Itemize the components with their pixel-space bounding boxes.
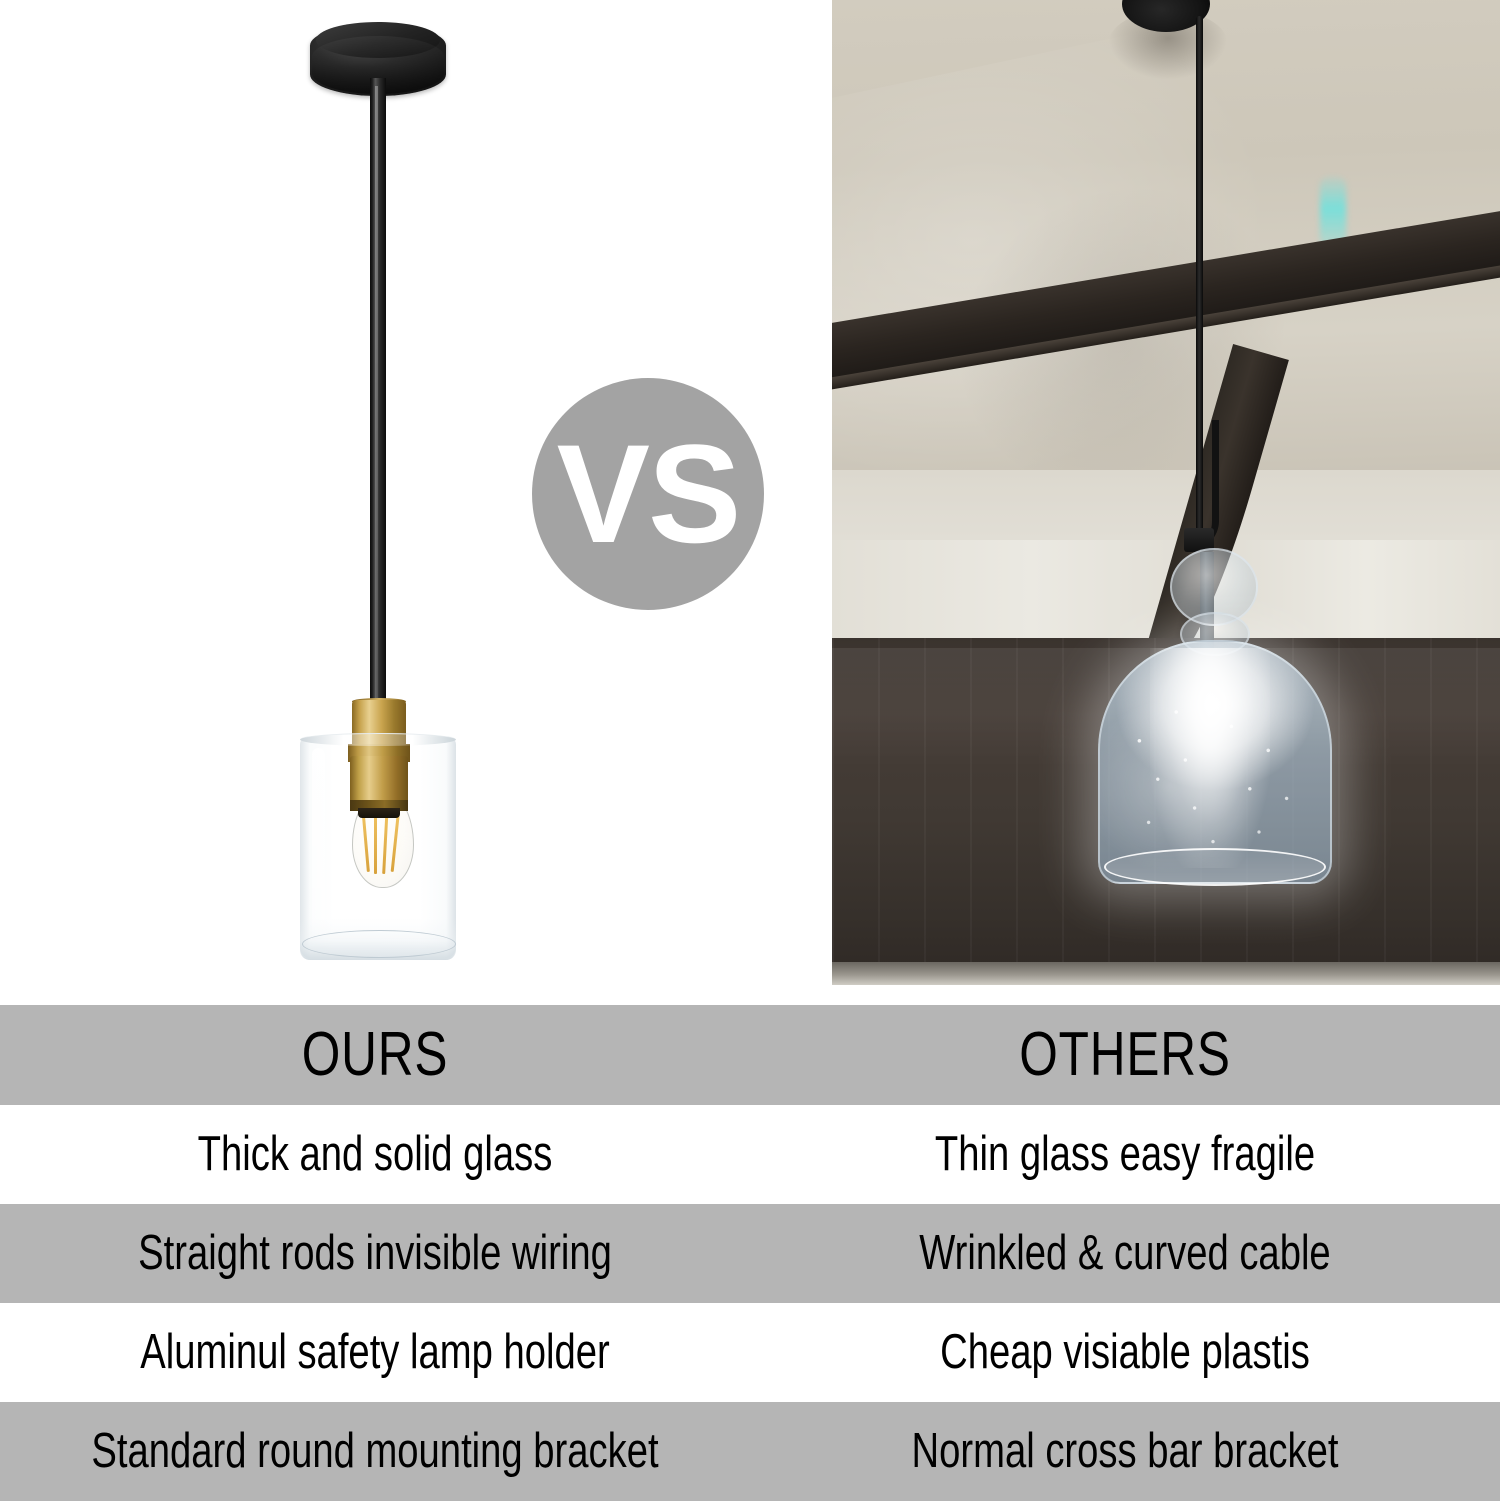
feature-ours: Thick and solid glass: [83, 1130, 668, 1179]
vs-label: VS: [557, 424, 740, 564]
feature-others: Thin glass easy fragile: [833, 1130, 1418, 1179]
glass-shade-top-rim: [300, 733, 456, 746]
pendant-rod-highlight: [375, 86, 378, 700]
table-row: Straight rods invisible wiring Wrinkled …: [0, 1204, 1500, 1303]
others-lifestyle-photo: [832, 0, 1500, 985]
feature-others: Cheap visiable plastis: [833, 1328, 1418, 1377]
lamp-light-hotspot: [1150, 648, 1270, 868]
table-row: Thick and solid glass Thin glass easy fr…: [0, 1105, 1500, 1204]
feature-ours: Standard round mounting bracket: [83, 1427, 668, 1476]
seeded-glass-shade-rim: [1104, 848, 1326, 886]
feature-ours: Straight rods invisible wiring: [83, 1229, 668, 1278]
glass-shade-bottom-rim: [302, 930, 456, 958]
header-others: OTHERS: [825, 1024, 1425, 1086]
comparison-visuals: VS: [0, 0, 1500, 1005]
feature-others: Normal cross bar bracket: [833, 1427, 1418, 1476]
table-row: Standard round mounting bracket Normal c…: [0, 1402, 1500, 1501]
feature-others: Wrinkled & curved cable: [833, 1229, 1418, 1278]
table-header-row: OURS OTHERS: [0, 1005, 1500, 1105]
pendant-rod: [370, 78, 386, 706]
glass-shade-gloss: [312, 748, 325, 938]
lamp-holder-base: [358, 808, 400, 818]
feature-ours: Aluminul safety lamp holder: [83, 1328, 668, 1377]
vs-badge: VS: [532, 378, 764, 610]
header-ours: OURS: [75, 1024, 675, 1086]
table-row: Aluminul safety lamp holder Cheap visiab…: [0, 1303, 1500, 1402]
product-comparison-image: VS: [0, 0, 1500, 1500]
floor-edge: [832, 962, 1500, 985]
comparison-table: OURS OTHERS Thick and solid glass Thin g…: [0, 1005, 1500, 1500]
